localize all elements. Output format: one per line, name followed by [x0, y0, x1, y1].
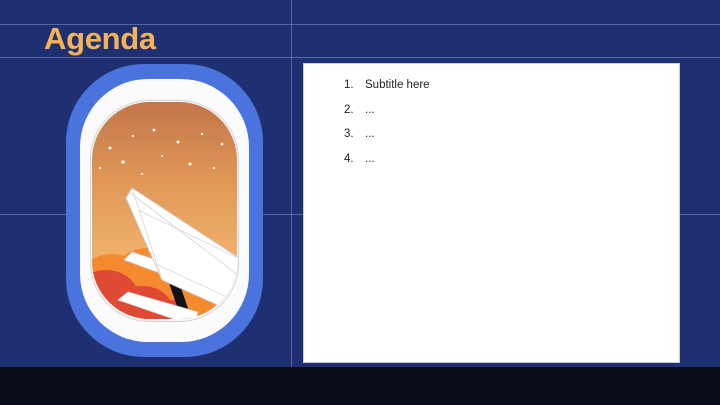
list-item-text: ... [365, 127, 375, 141]
list-item[interactable]: 1. Subtitle here [344, 78, 679, 92]
list-item-text: ... [365, 152, 375, 166]
list-item-text: ... [365, 103, 375, 117]
agenda-list: 1. Subtitle here 2. ... 3. ... 4. ... [304, 64, 679, 166]
content-card[interactable]: 1. Subtitle here 2. ... 3. ... 4. ... [303, 63, 680, 363]
list-item[interactable]: 4. ... [344, 152, 679, 166]
bottom-letterbox-bar [0, 367, 720, 405]
list-item-number: 1. [344, 78, 365, 92]
list-item-number: 3. [344, 127, 365, 141]
guide-line-vertical [291, 0, 292, 367]
list-item-number: 4. [344, 152, 365, 166]
slide-canvas: Agenda [0, 0, 720, 367]
list-item-text: Subtitle here [365, 78, 430, 92]
list-item-number: 2. [344, 103, 365, 117]
list-item[interactable]: 3. ... [344, 127, 679, 141]
list-item[interactable]: 2. ... [344, 103, 679, 117]
airplane-window-illustration [66, 64, 263, 357]
page-title: Agenda [44, 20, 156, 58]
